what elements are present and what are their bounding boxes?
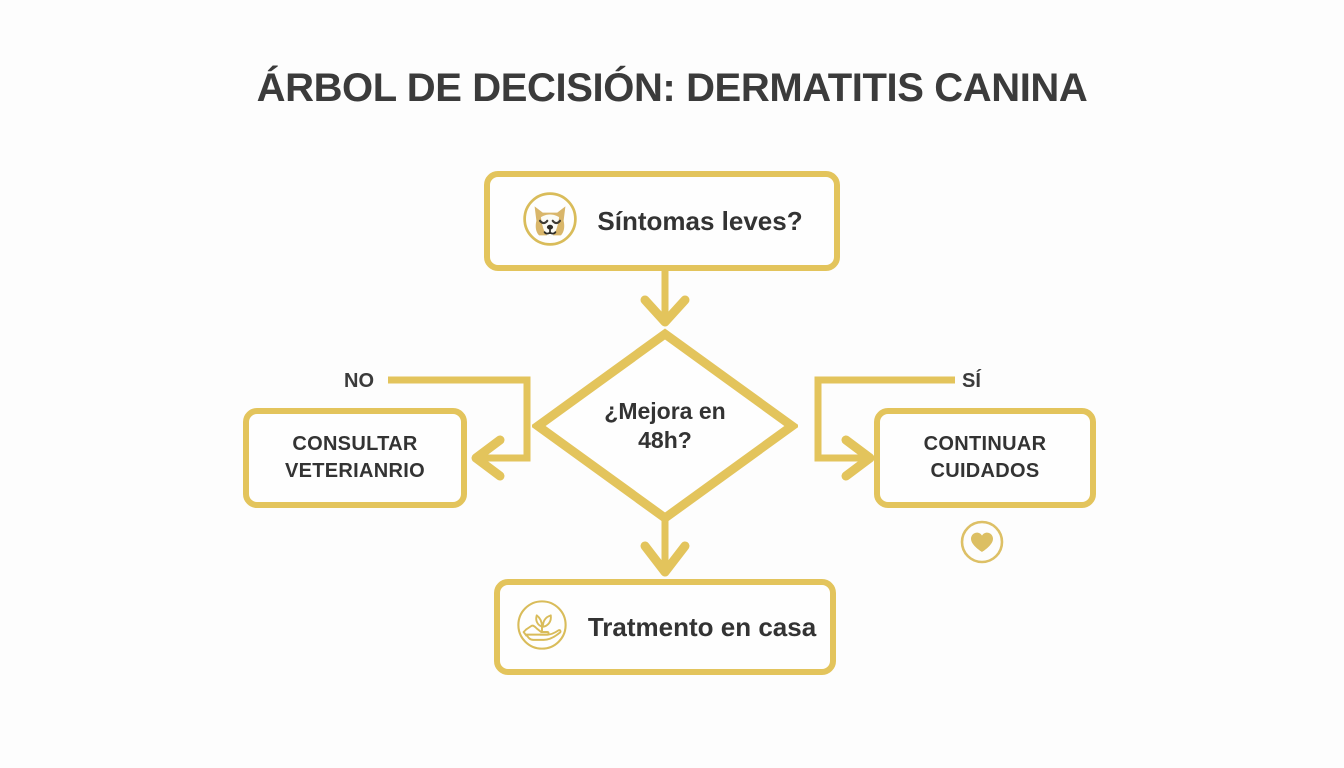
edge-root-arrowhead: [645, 300, 685, 322]
decision-diamond-label: ¿Mejora en 48h?: [532, 328, 798, 524]
page-title: ÁRBOL DE DECISIÓN: DERMATITIS CANINA: [0, 66, 1344, 111]
hand-plant-icon: [514, 597, 570, 658]
heart-icon: [958, 518, 1006, 566]
node-continuar-cuidados-label: CONTINUAR CUIDADOS: [924, 431, 1047, 485]
node-tratamiento-en-casa[interactable]: Tratmento en casa: [494, 579, 836, 675]
diagram-canvas: ÁRBOL DE DECISIÓN: DERMATITIS CANINA ¿Me…: [0, 0, 1344, 768]
dog-face-icon: [521, 190, 579, 253]
right-label-line2: CUIDADOS: [930, 460, 1039, 482]
left-label-line1: CONSULTAR: [292, 433, 417, 455]
decision-diamond[interactable]: ¿Mejora en 48h?: [532, 328, 798, 524]
decision-label-line1: ¿Mejora en: [604, 398, 725, 424]
right-label-line1: CONTINUAR: [924, 433, 1047, 455]
node-sintomas-leves-label: Síntomas leves?: [597, 206, 802, 237]
node-tratamiento-en-casa-label: Tratmento en casa: [588, 612, 816, 643]
node-sintomas-leves[interactable]: Síntomas leves?: [484, 171, 840, 271]
edge-bottom-arrowhead: [645, 546, 685, 572]
node-continuar-cuidados[interactable]: CONTINUAR CUIDADOS: [874, 408, 1096, 508]
decision-label-line2: 48h?: [638, 427, 692, 453]
node-consultar-veterinario[interactable]: CONSULTAR VETERIANRIO: [243, 408, 467, 508]
node-consultar-veterinario-label: CONSULTAR VETERIANRIO: [285, 431, 425, 485]
left-label-line2: VETERIANRIO: [285, 460, 425, 482]
branch-label-no: NO: [344, 370, 374, 393]
edge-no-arrowhead: [476, 440, 500, 476]
edge-si-arrowhead: [846, 440, 870, 476]
branch-label-si: SÍ: [962, 370, 981, 393]
